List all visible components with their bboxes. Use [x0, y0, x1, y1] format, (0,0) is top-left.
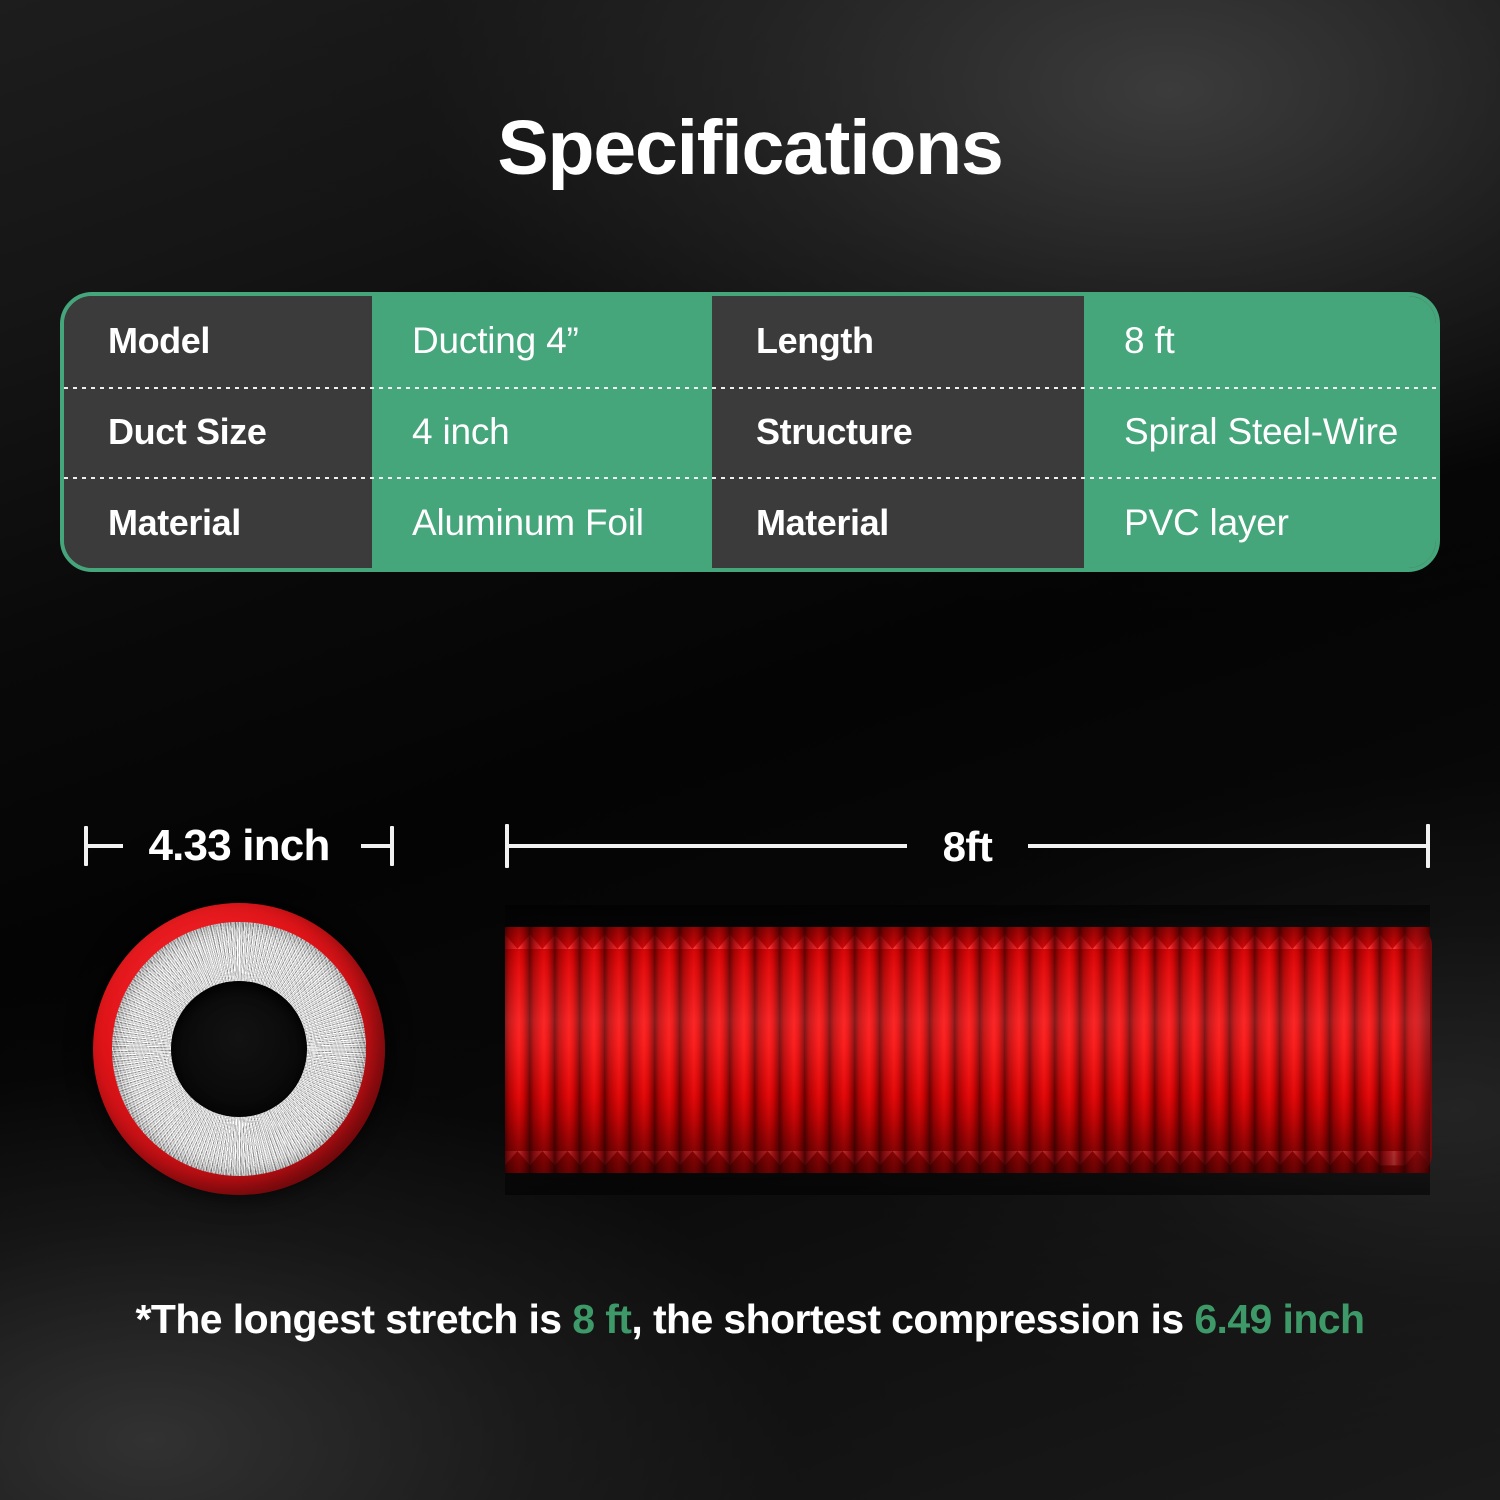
length-dimension: 8ft	[505, 818, 1430, 876]
table-row: Model Ducting 4” Length 8 ft	[64, 296, 1436, 387]
table-row: Material Aluminum Foil Material PVC laye…	[64, 477, 1436, 568]
diameter-label: 4.33 inch	[84, 818, 394, 874]
footnote-highlight-compression: 6.49 inch	[1194, 1296, 1364, 1342]
specifications-page: Specifications Model Ducting 4” Length 8…	[0, 0, 1500, 1500]
diameter-dimension: 4.33 inch	[84, 818, 394, 876]
spec-label-duct-size: Duct Size	[64, 387, 372, 478]
footnote-highlight-stretch: 8 ft	[572, 1296, 631, 1342]
spec-value-duct-size: 4 inch	[372, 387, 712, 478]
hose-right-end-cap	[1402, 927, 1432, 1173]
duct-cross-section	[93, 903, 385, 1195]
page-title: Specifications	[0, 104, 1500, 193]
spec-label-structure: Structure	[712, 387, 1084, 478]
spec-value-material-pvc: PVC layer	[1084, 477, 1436, 568]
spec-value-length: 8 ft	[1084, 296, 1436, 387]
footnote-part-1: *The longest stretch is	[136, 1296, 573, 1342]
spec-label-material-foil: Material	[64, 477, 372, 568]
spec-label-material-pvc: Material	[712, 477, 1084, 568]
specifications-table: Model Ducting 4” Length 8 ft Duct Size 4…	[60, 292, 1440, 572]
spec-value-structure: Spiral Steel-Wire	[1084, 387, 1436, 478]
duct-inner-bore	[171, 981, 307, 1117]
table-row: Duct Size 4 inch Structure Spiral Steel-…	[64, 387, 1436, 478]
spec-label-length: Length	[712, 296, 1084, 387]
spec-value-material-foil: Aluminum Foil	[372, 477, 712, 568]
flexible-ducting-hose	[505, 905, 1430, 1195]
footnote-part-2: , the shortest compression is	[631, 1296, 1194, 1342]
footnote: *The longest stretch is 8 ft, the shorte…	[0, 1296, 1500, 1343]
length-label: 8ft	[505, 818, 1430, 876]
spec-label-model: Model	[64, 296, 372, 387]
spec-value-model: Ducting 4”	[372, 296, 712, 387]
